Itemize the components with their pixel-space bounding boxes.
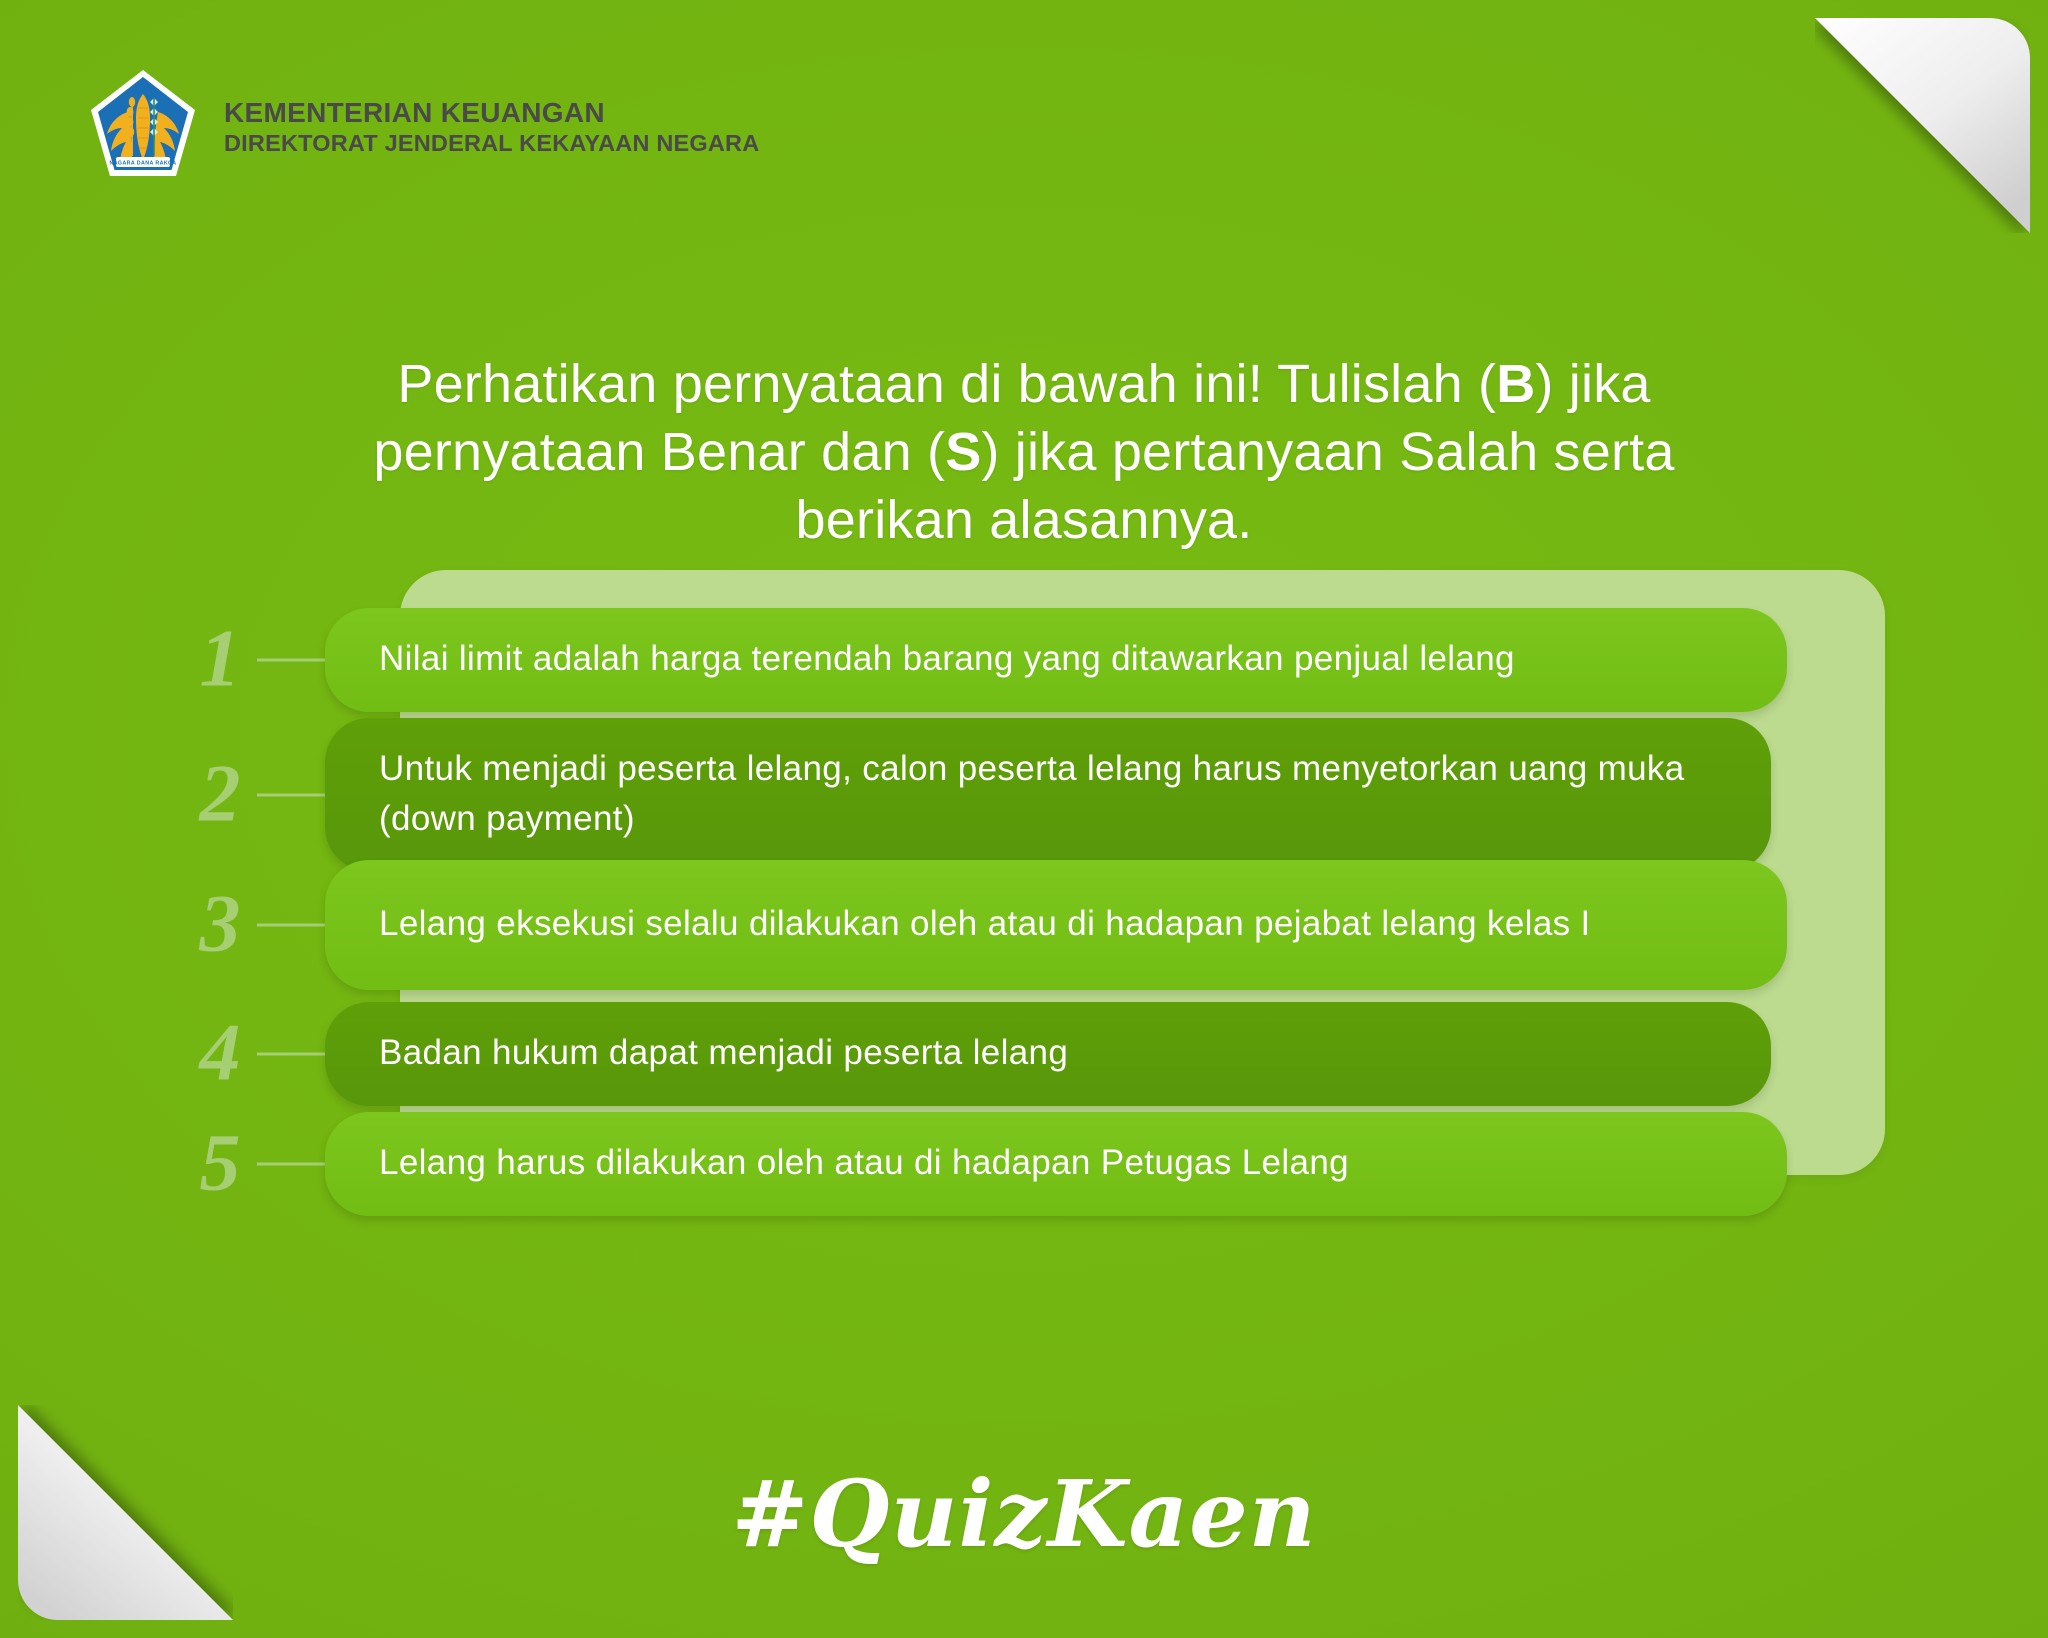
brand-text-block: KEMENTERIAN KEUANGAN DIREKTORAT JENDERAL… [224, 90, 759, 158]
prompt-part-1: Perhatikan pernyataan di bawah ini! Tuli… [397, 354, 1496, 414]
statement-row: 5 Lelang harus dilakukan oleh atau di ha… [325, 1112, 1885, 1216]
page-curl-bottom-left-icon [18, 1405, 233, 1620]
page-curl-top-right-icon [1815, 18, 2030, 233]
statement-card[interactable]: Lelang eksekusi selalu dilakukan oleh at… [325, 860, 1787, 990]
brand-header: NAGARA DANA RAKÇA KEMENTERIAN KEUANGAN D… [88, 68, 759, 180]
statement-text: Lelang harus dilakukan oleh atau di hada… [379, 1138, 1349, 1188]
statement-row: 1 Nilai limit adalah harga terendah bara… [325, 608, 1885, 712]
statement-number: 2 [185, 752, 255, 834]
statement-card[interactable]: Nilai limit adalah harga terendah barang… [325, 608, 1787, 712]
statement-row: 4 Badan hukum dapat menjadi peserta lela… [325, 1002, 1885, 1106]
poster-canvas: NAGARA DANA RAKÇA KEMENTERIAN KEUANGAN D… [0, 0, 2048, 1638]
statement-text: Untuk menjadi peserta lelang, calon pese… [379, 744, 1717, 843]
statement-number: 1 [185, 617, 255, 699]
statement-card[interactable]: Untuk menjadi peserta lelang, calon pese… [325, 718, 1771, 871]
kemenkeu-pentagon-logo-icon: NAGARA DANA RAKÇA [88, 68, 198, 180]
statement-card[interactable]: Lelang harus dilakukan oleh atau di hada… [325, 1112, 1787, 1216]
statement-text: Lelang eksekusi selalu dilakukan oleh at… [379, 899, 1591, 949]
statement-number: 5 [185, 1121, 255, 1203]
statement-text: Badan hukum dapat menjadi peserta lelang [379, 1028, 1068, 1078]
svg-text:NAGARA DANA RAKÇA: NAGARA DANA RAKÇA [109, 161, 176, 167]
directorate-name: DIREKTORAT JENDERAL KEKAYAAN NEGARA [224, 129, 759, 158]
statement-row: 3 Lelang eksekusi selalu dilakukan oleh … [325, 860, 1885, 990]
prompt-bold-s: S [945, 422, 981, 482]
ministry-name: KEMENTERIAN KEUANGAN [224, 96, 759, 129]
hashtag-signature: #QuizKaen [731, 1460, 1316, 1568]
prompt-bold-b: B [1496, 354, 1535, 414]
statement-stack: 1 Nilai limit adalah harga terendah bara… [325, 570, 1885, 1230]
statement-number: 3 [185, 882, 255, 964]
statement-text: Nilai limit adalah harga terendah barang… [379, 634, 1515, 684]
prompt-headline: Perhatikan pernyataan di bawah ini! Tuli… [294, 350, 1754, 554]
statement-number: 4 [185, 1011, 255, 1093]
statement-card[interactable]: Badan hukum dapat menjadi peserta lelang [325, 1002, 1771, 1106]
statement-row: 2 Untuk menjadi peserta lelang, calon pe… [325, 718, 1885, 871]
